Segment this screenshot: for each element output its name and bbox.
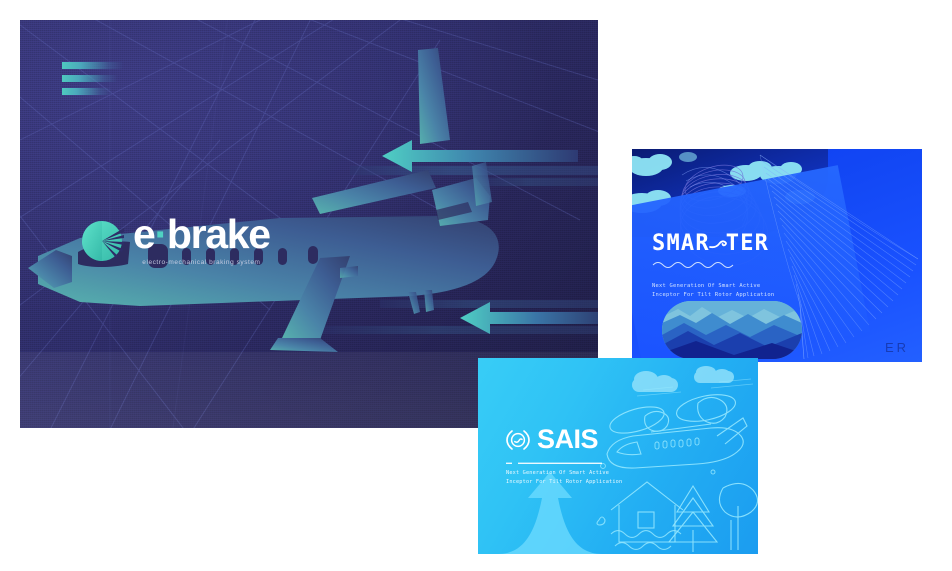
tiltrotor-scene-illustration — [593, 370, 758, 554]
accent-bar-1 — [62, 62, 124, 69]
panel-smarter[interactable]: SMAR TER Next Generation Of Smart Active… — [632, 149, 922, 362]
accent-bars — [62, 62, 124, 101]
accent-bar-3 — [62, 88, 112, 95]
round-tree-icon — [719, 483, 757, 550]
smarter-subtitle: Next Generation Of Smart ActiveInceptor … — [652, 282, 774, 301]
smarter-word-right: TER — [726, 233, 769, 255]
ebrake-word-e: e — [133, 211, 155, 257]
ebrake-logo-icon — [80, 219, 124, 263]
panel-sais[interactable]: SAIS Next Generation Of Smart ActiveInce… — [478, 358, 758, 554]
pine-tree-icon — [669, 486, 717, 552]
mountain-landscape — [662, 301, 802, 359]
sais-wordmark: SAIS — [537, 426, 598, 453]
smarter-subtitle-line2: Inceptor For Tilt Rotor Application — [652, 292, 774, 298]
slide-collage: e·brake electro-mechanical braking syste… — [0, 0, 952, 571]
smarter-subtitle-line1: Next Generation Of Smart Active — [652, 283, 760, 289]
house-icon — [611, 482, 683, 542]
water-icon — [597, 517, 681, 550]
wavy-underline-icon — [652, 260, 744, 270]
ebrake-word: e·brake — [133, 216, 270, 254]
smarter-wordmark-block: SMAR TER Next Generation Of Smart Active… — [652, 233, 774, 301]
mountain-shapes — [662, 301, 802, 359]
ebrake-wordmark: e·brake electro-mechanical braking syste… — [133, 216, 270, 266]
smarter-word-left: SMAR — [652, 233, 710, 255]
ebrake-logo[interactable]: e·brake electro-mechanical braking syste… — [80, 216, 270, 266]
ebrake-tagline: electro-mechanical braking system — [133, 259, 270, 266]
ebrake-word-dot: · — [155, 211, 167, 257]
sais-subtitle-line2: Inceptor For Tilt Rotor Application — [506, 479, 622, 485]
sais-logo-icon — [506, 428, 530, 452]
sais-logo[interactable]: SAIS — [506, 426, 598, 453]
sais-divider-rule — [506, 459, 602, 468]
smarter-wordmark: SMAR TER — [652, 233, 774, 255]
smarter-watermark: ER — [885, 340, 909, 355]
ebrake-word-brake: brake — [167, 211, 270, 257]
accent-bar-2 — [62, 75, 118, 82]
smarter-swoosh-icon — [709, 235, 727, 253]
sais-subtitle-line1: Next Generation Of Smart Active — [506, 470, 609, 476]
sais-subtitle: Next Generation Of Smart ActiveInceptor … — [506, 469, 622, 488]
